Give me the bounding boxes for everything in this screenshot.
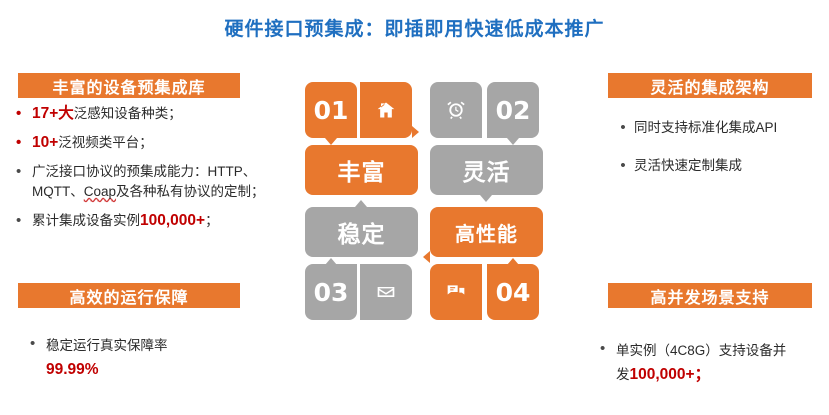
list-item-line1: 单实例（4C8G）支持设备并 [616,343,786,358]
list-item: • 单实例（4C8G）支持设备并发100,000+； [600,339,828,387]
highlight-value: 99.99% [46,358,280,382]
bullet-list-high-concurrency: • 单实例（4C8G）支持设备并发100,000+； [600,339,828,393]
alarm-clock-icon [430,82,482,138]
panel-header-flexible-architecture: 灵活的集成架构 [608,73,812,98]
highlight-value: 100,000+ [140,212,205,229]
envelope-icon [360,264,412,320]
panel-header-rich-device-library: 丰富的设备预集成库 [18,73,240,98]
list-item-line2-prefix: MQTT、 [32,184,84,199]
highlight-value: 17+大 [32,105,74,122]
highlight-value: 100,000+； [630,366,711,383]
list-item-text: 单实例（4C8G）支持设备并发100,000+； [616,339,828,387]
chat-bubbles-icon [430,264,482,320]
list-item-line2: 发100,000+； [616,363,828,387]
list-item-text: 10+泛视频类平台； [32,133,278,153]
misspelled-word: Coap [84,184,116,199]
bullet-list-efficient-operation: • 稳定运行真实保障率99.99% [30,334,280,388]
list-item-rest: 泛视频类平台； [58,135,153,150]
highlight-value: 10+ [32,134,58,151]
bullet-marker-icon: • [16,133,32,152]
bullet-marker-icon: • [612,156,634,175]
list-item: • 同时支持标准化集成API [612,118,827,138]
bullet-marker-icon: • [16,104,32,123]
quadrant-04-high-performance[interactable]: 高性能 04 [430,207,543,320]
list-item: • 17+大泛感知设备种类； [16,104,278,124]
list-item-line1: 广泛接口协议的预集成能力：HTTP、 [32,164,256,179]
badge-tail [325,138,337,145]
list-item: • 累计集成设备实例100,000+； [16,211,278,231]
badge-tail [412,126,419,138]
home-icon [360,82,412,138]
bullet-marker-icon: • [16,211,32,230]
page-title: 硬件接口预集成：即插即用快速低成本推广 [0,14,829,41]
quadrant-label: 稳定 [305,207,418,257]
quadrant-02-flexible[interactable]: 02 灵活 [430,82,543,195]
panel-header-efficient-operation: 高效的运行保障 [18,283,240,308]
quadrant-diagram: 01 丰富 02 灵活 稳定 03 [305,82,545,322]
bullet-list-rich-device-library: • 17+大泛感知设备种类； • 10+泛视频类平台； • 广泛接口协议的预集成… [16,104,278,240]
bullet-marker-icon: • [600,339,616,358]
list-item-line2-suffix: 及各种私有协议的定制； [116,184,265,199]
bullet-list-flexible-architecture: • 同时支持标准化集成API • 灵活快速定制集成 [612,118,827,194]
list-item-tail: ； [205,213,219,228]
list-item-line1: 稳定运行真实保障率 [46,338,168,353]
badge-tail [480,195,492,202]
slide-canvas: 硬件接口预集成：即插即用快速低成本推广 丰富的设备预集成库 • 17+大泛感知设… [0,0,829,415]
list-item-text: 稳定运行真实保障率99.99% [46,334,280,382]
quadrant-label: 灵活 [430,145,543,195]
list-item-line2: MQTT、Coap及各种私有协议的定制； [32,182,278,202]
quadrant-label: 高性能 [430,207,543,257]
quadrant-01-rich[interactable]: 01 丰富 [305,82,418,195]
bullet-marker-icon: • [612,118,634,137]
quadrant-number-badge: 01 [305,82,357,138]
list-item: • 稳定运行真实保障率99.99% [30,334,280,382]
bullet-marker-icon: • [30,334,46,353]
list-item-text: 灵活快速定制集成 [634,156,827,176]
badge-tail [423,251,430,263]
list-item-rest: 泛感知设备种类； [74,106,182,121]
panel-header-high-concurrency: 高并发场景支持 [608,283,812,308]
list-item-text: 累计集成设备实例100,000+； [32,211,278,231]
quadrant-03-stable[interactable]: 稳定 03 [305,207,418,320]
list-item-text: 17+大泛感知设备种类； [32,104,278,124]
list-item: • 10+泛视频类平台； [16,133,278,153]
list-item-text: 同时支持标准化集成API [634,118,827,138]
list-item: • 灵活快速定制集成 [612,156,827,176]
list-item-text: 广泛接口协议的预集成能力：HTTP、MQTT、Coap及各种私有协议的定制； [32,162,278,202]
quadrant-number-badge: 03 [305,264,357,320]
quadrant-label: 丰富 [305,145,418,195]
badge-tail [355,200,367,207]
bullet-marker-icon: • [16,162,32,181]
badge-tail [507,138,519,145]
list-item-rest: 累计集成设备实例 [32,213,140,228]
quadrant-number-badge: 04 [487,264,539,320]
list-item-line2-prefix: 发 [616,367,630,382]
list-item: • 广泛接口协议的预集成能力：HTTP、MQTT、Coap及各种私有协议的定制； [16,162,278,202]
quadrant-number-badge: 02 [487,82,539,138]
